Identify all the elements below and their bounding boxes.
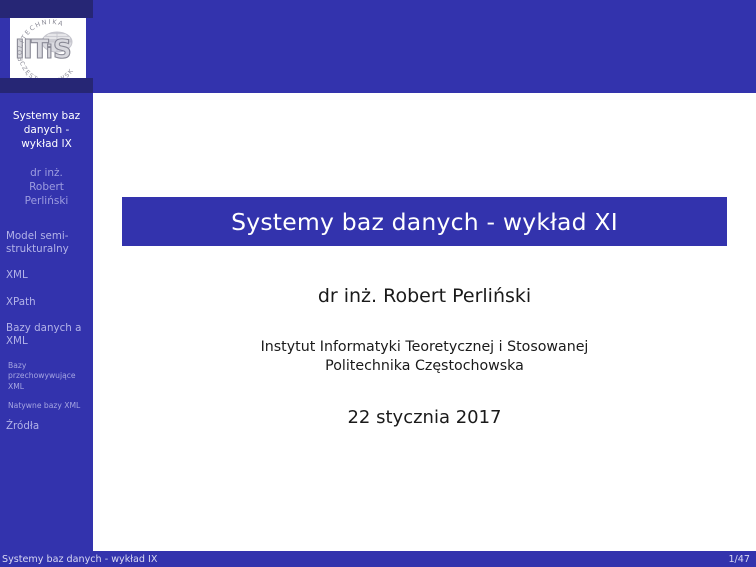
sidebar-title-line: Systemy baz	[0, 109, 93, 123]
sidebar-item-xpath[interactable]: XPath	[0, 296, 93, 309]
footer-sidebar-connector	[0, 543, 93, 551]
sidebar-title-line: danych -	[0, 123, 93, 137]
author-name: dr inż. Robert Perliński	[93, 285, 756, 307]
page-indicator: 1/47	[728, 551, 750, 567]
sidebar-author-line: Perliński	[0, 194, 93, 208]
presentation-date: 22 stycznia 2017	[93, 407, 756, 428]
sidebar-subitem-natywne-bazy-xml[interactable]: Natywne bazy XML	[0, 401, 93, 411]
sidebar: I I T i S POLITECHNIKA CZĘSTOCHOWSKA Sys…	[0, 0, 93, 567]
affiliation: Instytut Informatyki Teoretycznej i Stos…	[93, 338, 756, 376]
sidebar-item-bazy-danych-a-xml[interactable]: Bazy danych a XML	[0, 322, 93, 348]
institution-logo: I I T i S POLITECHNIKA CZĘSTOCHOWSKA	[10, 18, 86, 78]
affiliation-line: Politechnika Częstochowska	[93, 357, 756, 376]
svg-text:i: i	[46, 41, 53, 63]
affiliation-line: Instytut Informatyki Teoretycznej i Stos…	[93, 338, 756, 357]
sidebar-title-line: wykład IX	[0, 137, 93, 151]
page-title: Systemy baz danych - wykład XI	[231, 208, 618, 236]
sidebar-logo-bottom-accent	[0, 78, 93, 93]
slide-content: Systemy baz danych - wykład XI dr inż. R…	[93, 93, 756, 543]
sidebar-item-model-semistrukturalny[interactable]: Model semi-strukturalny	[0, 230, 93, 256]
sidebar-navigation: Model semi-strukturalny XML XPath Bazy d…	[0, 230, 93, 446]
slide-title-banner: Systemy baz danych - wykład XI	[122, 197, 727, 246]
sidebar-author: dr inż. Robert Perliński	[0, 166, 93, 209]
sidebar-item-zrodla[interactable]: Źródła	[0, 420, 93, 433]
sidebar-author-line: dr inż.	[0, 166, 93, 180]
sidebar-author-line: Robert	[0, 180, 93, 194]
sidebar-subitem-bazy-przechowywujace-xml[interactable]: Bazy przechowywujące XML	[0, 361, 93, 392]
sidebar-presentation-title: Systemy baz danych - wykład IX	[0, 109, 93, 152]
sidebar-item-xml[interactable]: XML	[0, 269, 93, 282]
footer-gap	[93, 543, 756, 551]
svg-text:S: S	[53, 35, 72, 65]
sidebar-top-accent	[0, 0, 93, 18]
footer-title: Systemy baz danych - wykład IX	[2, 551, 157, 567]
header-bar	[93, 0, 756, 93]
